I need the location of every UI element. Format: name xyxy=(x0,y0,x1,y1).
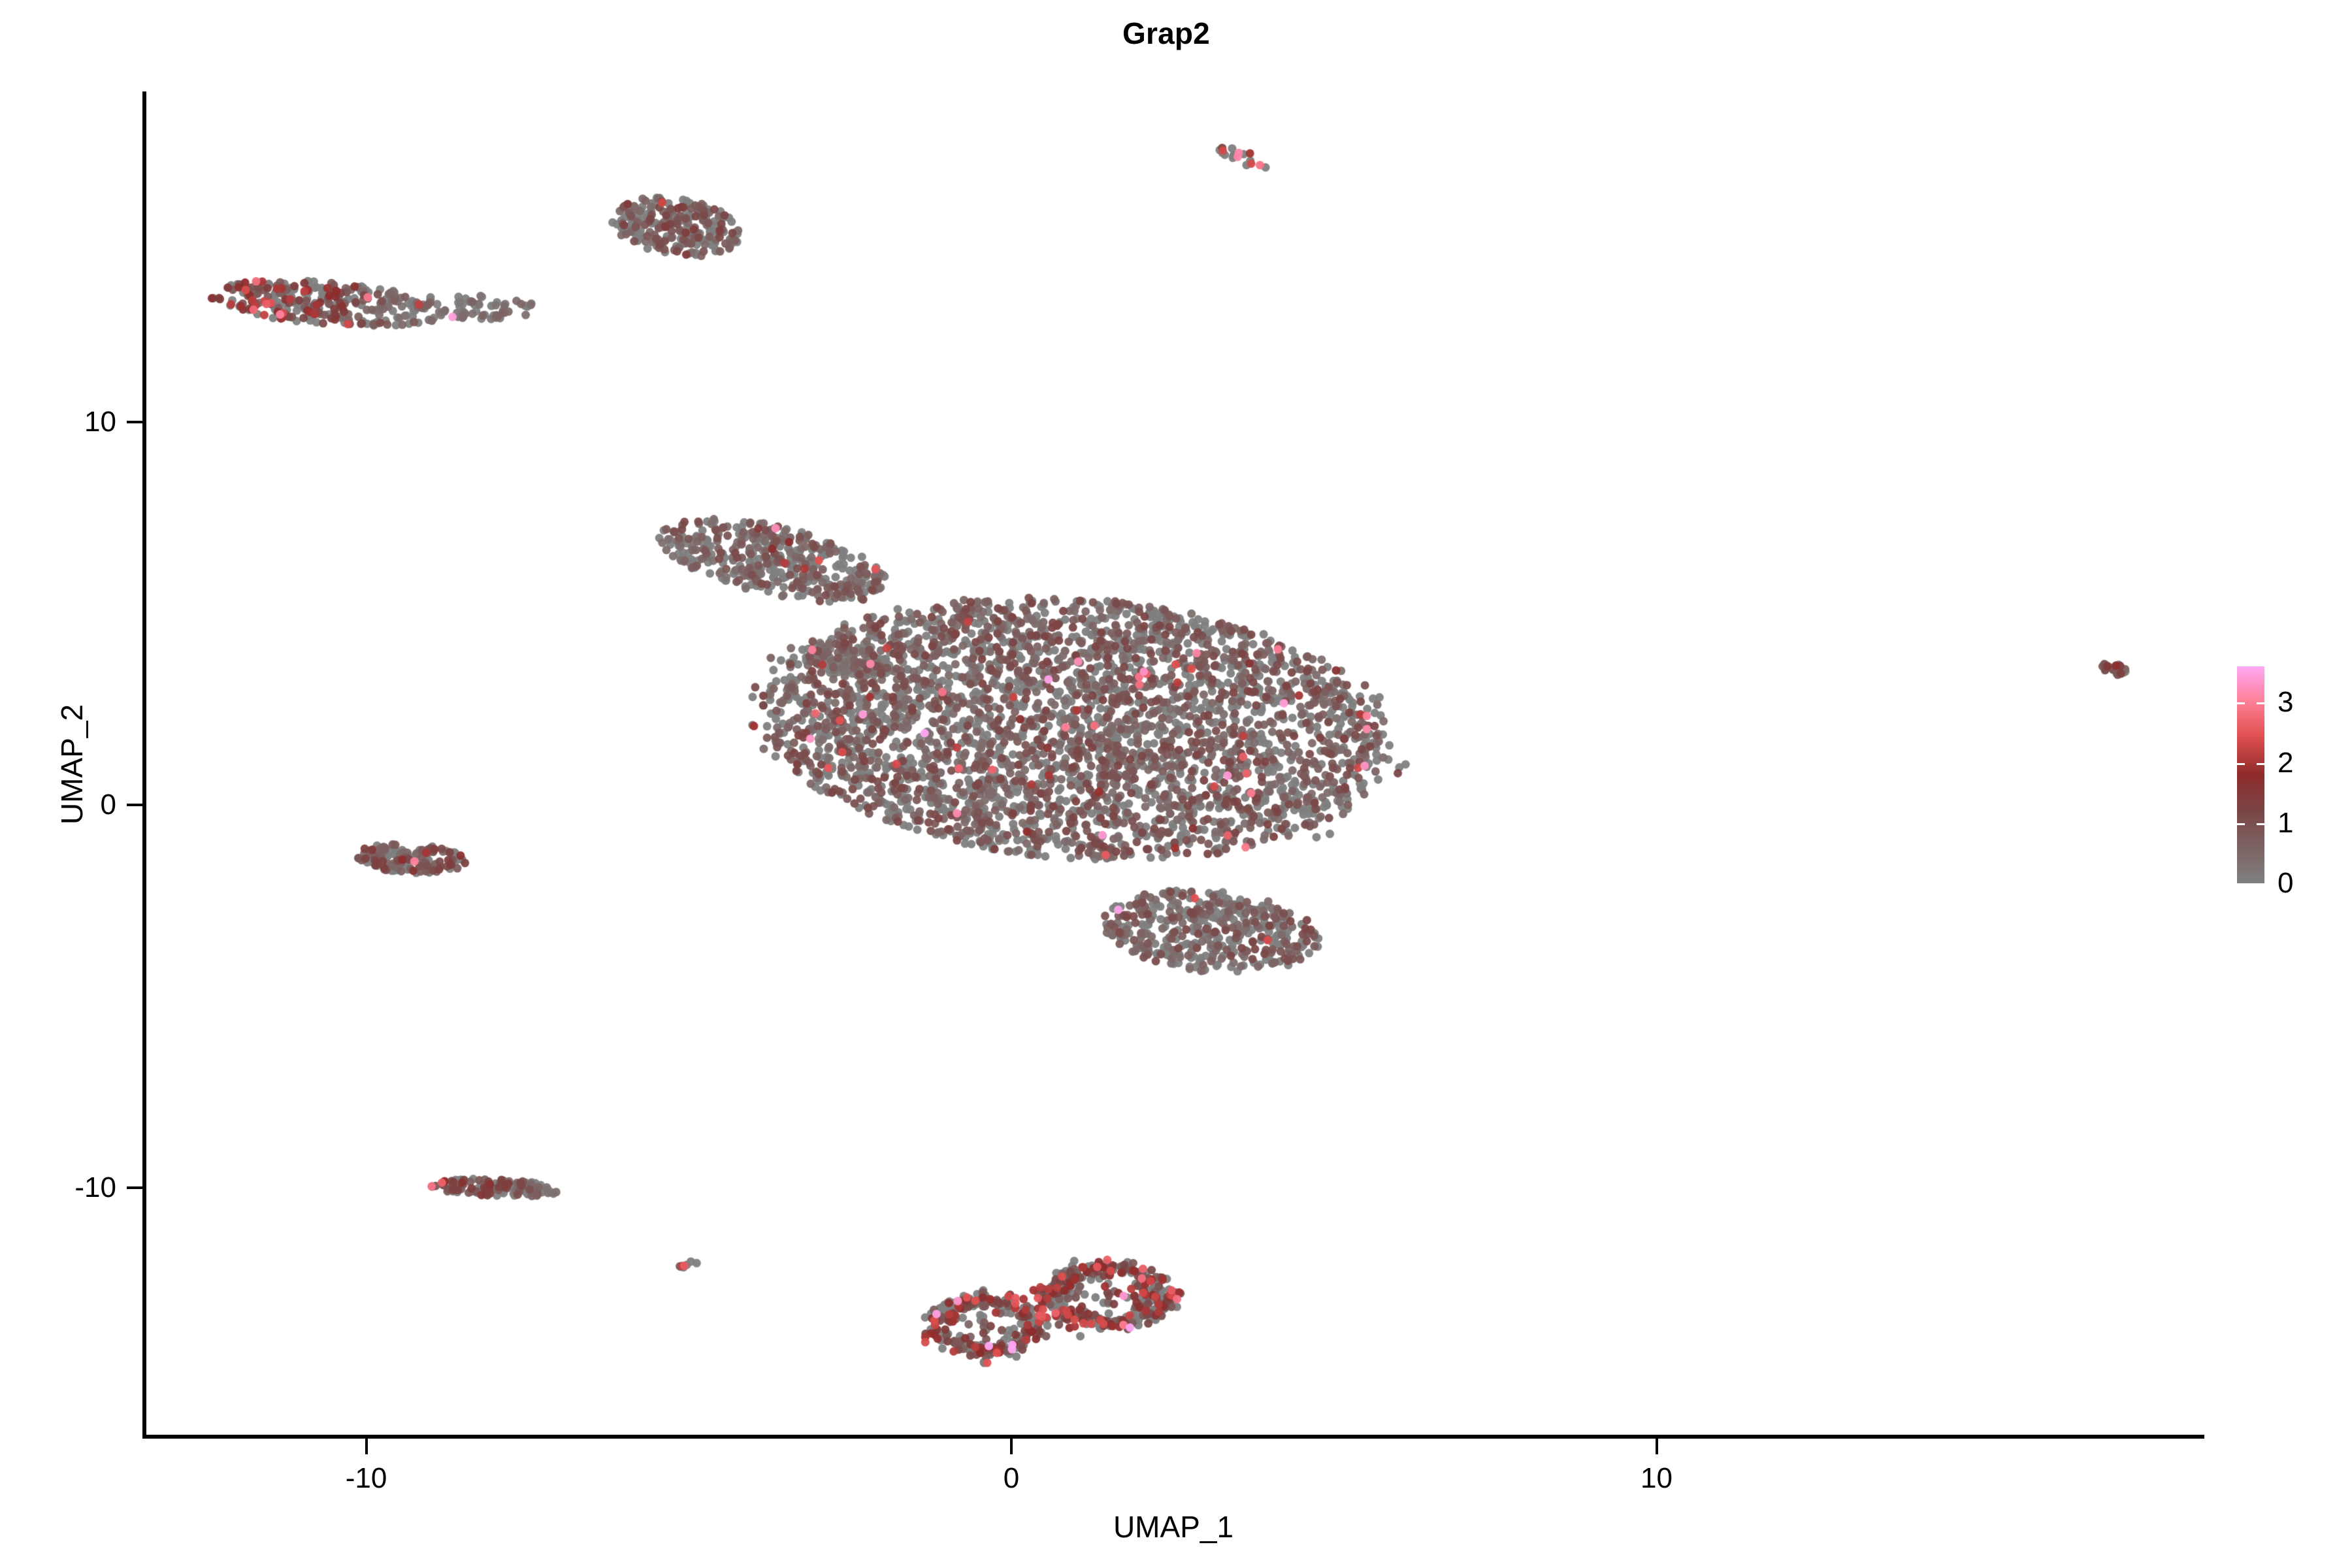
page-title: Grap2 xyxy=(0,16,2352,51)
y-tick-label: 10 xyxy=(84,406,116,438)
figure-canvas: Grap2 -10010 -10010 UMAP_1 UMAP_2 3210 xyxy=(0,0,2352,1568)
x-tick-label: 0 xyxy=(1004,1462,1019,1495)
colorbar-tick-mark xyxy=(2257,702,2264,704)
colorbar-tick-mark xyxy=(2237,702,2245,704)
y-tick-mark xyxy=(127,1186,142,1189)
colorbar-tick-mark xyxy=(2237,763,2245,765)
plot-panel xyxy=(144,91,2203,1437)
x-axis-title: UMAP_1 xyxy=(144,1509,2203,1544)
color-legend[interactable]: 3210 xyxy=(2237,666,2352,889)
scatter-points-layer xyxy=(144,91,2203,1437)
colorbar-tick-label: 3 xyxy=(2278,686,2293,719)
colorbar-tick-label: 2 xyxy=(2278,747,2293,779)
colorbar-tick-label: 0 xyxy=(2278,867,2293,900)
y-tick-label: -10 xyxy=(74,1171,116,1204)
plot-title-text: Grap2 xyxy=(1122,16,1210,51)
x-tick-mark xyxy=(365,1439,368,1454)
x-tick-label: 10 xyxy=(1641,1462,1673,1495)
x-tick-mark xyxy=(1010,1439,1013,1454)
x-tick-label: -10 xyxy=(346,1462,387,1495)
x-tick-mark xyxy=(1656,1439,1658,1454)
y-tick-label: 0 xyxy=(101,789,116,821)
colorbar-tick-mark xyxy=(2257,823,2264,825)
colorbar-gradient xyxy=(2237,666,2264,883)
y-axis-title: UMAP_2 xyxy=(54,704,90,825)
colorbar-tick-label: 1 xyxy=(2278,807,2293,840)
colorbar-tick-mark xyxy=(2237,823,2245,825)
y-tick-mark xyxy=(127,421,142,423)
y-axis-line xyxy=(142,91,146,1439)
y-tick-mark xyxy=(127,804,142,806)
x-axis-line xyxy=(142,1435,2204,1439)
colorbar-tick-mark xyxy=(2257,763,2264,765)
